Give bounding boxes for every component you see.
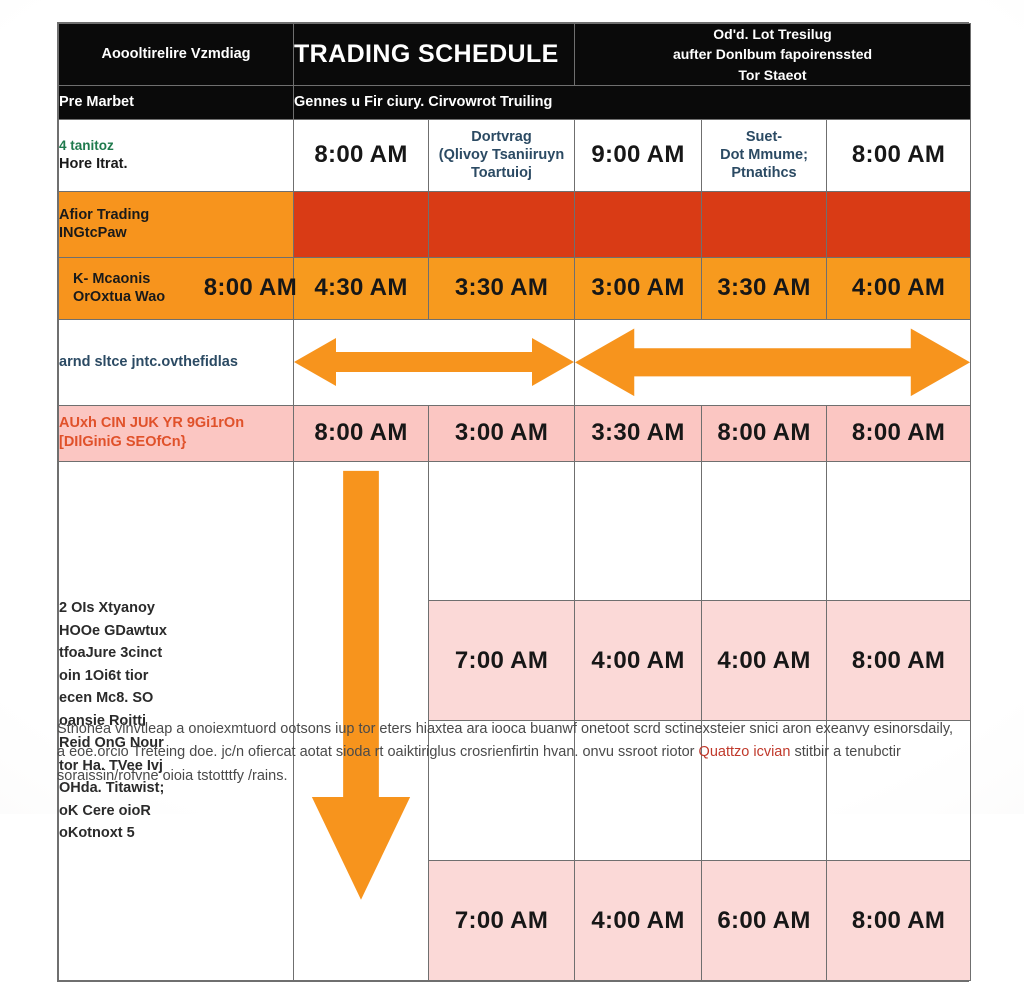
header-right-line-1: Od'd. Lot Tresilug bbox=[575, 24, 970, 44]
row-label-line-1: AUxh CIN JUK YR 9Gi1rOn bbox=[59, 414, 293, 433]
screenshot-root: Aoooltirelire Vzmdiag TRADING SCHEDULE O… bbox=[0, 0, 1024, 814]
row-label-line-1: 4 tanitoz bbox=[59, 137, 293, 154]
narrative-line: HOOe GDawtux bbox=[59, 620, 293, 642]
cell-time: 8:00 AM bbox=[294, 405, 429, 461]
cell-spacer bbox=[702, 461, 827, 601]
column-head-2-line-3: Toartuioj bbox=[429, 164, 574, 182]
header-left-title: Aoooltirelire Vzmdiag bbox=[59, 24, 294, 86]
cell-time: 8:00 AM bbox=[827, 119, 971, 191]
cell-time: 7:00 AM bbox=[429, 601, 575, 721]
header-right-line-2: aufter Donlbum fapoirenssted bbox=[575, 44, 970, 64]
table-row: AUxh CIN JUK YR 9Gi1rOn [DIlGiniG SEOfCn… bbox=[59, 405, 971, 461]
cell-time: 3:00 AM bbox=[429, 405, 575, 461]
footer-line-2: a eoe.orcio Treteing doe. jc/n ofiercat … bbox=[57, 741, 969, 764]
column-head-2-line-2: (Qlivoy Tsaniiruyn bbox=[429, 146, 574, 164]
column-head-4-line-2: Dot Mmume; bbox=[702, 146, 826, 164]
row-label-pink-section: AUxh CIN JUK YR 9Gi1rOn [DIlGiniG SEOfCn… bbox=[59, 405, 294, 461]
cell-time: 8:00 AM bbox=[702, 405, 827, 461]
cell-red-block bbox=[827, 191, 971, 257]
narrative-line: oin 1Oi6t tior bbox=[59, 665, 293, 687]
section-band-row: Pre Marbet Gennes u Fir ciury. Cirvowrot… bbox=[59, 85, 971, 119]
cell-time: 3:30 AM bbox=[575, 405, 702, 461]
cell-time: 8:00 AM bbox=[827, 405, 971, 461]
row-label-arrow-note: arnd sltce jntc.ovthefidlas bbox=[59, 319, 294, 405]
narrative-line: 2 OIs Xtyanoy bbox=[59, 597, 293, 619]
footer-highlight: Quattzo icvian bbox=[699, 744, 791, 760]
table-row: arnd sltce jntc.ovthefidlas bbox=[59, 319, 971, 405]
column-head-4: Suet- Dot Mmume; Ptnatihcs bbox=[702, 119, 827, 191]
cell-time: 3:00 AM bbox=[575, 257, 702, 319]
cell-time: 4:00 AM bbox=[575, 601, 702, 721]
header-right-title: Od'd. Lot Tresilug aufter Donlbum fapoir… bbox=[575, 24, 971, 86]
row-label-line-2: [DIlGiniG SEOfCn} bbox=[59, 433, 293, 452]
footer-line-3: soraissin/rofvne oioia tstotttfy /rains. bbox=[57, 765, 969, 788]
row-label-line-1: Afior Trading bbox=[59, 206, 293, 225]
table-row: 4 tanitoz Hore Itrat. 8:00 AM Dortvrag (… bbox=[59, 119, 971, 191]
narrative-line: oKotnoxt 5 bbox=[59, 822, 293, 844]
cell-spacer bbox=[827, 461, 971, 601]
column-head-2-line-1: Dortvrag bbox=[429, 128, 574, 146]
row-label-market-open: 4 tanitoz Hore Itrat. bbox=[59, 119, 294, 191]
row-label-after-trading: Afior Trading INGtcPaw bbox=[59, 191, 294, 257]
row-label-line-2: INGtcPaw bbox=[59, 224, 293, 243]
row-label-line-1: arnd sltce jntc.ovthefidlas bbox=[59, 353, 293, 372]
cell-red-block bbox=[575, 191, 702, 257]
footer-line-1: Stnonea vinvtleap a onoiexmtuord ootsons… bbox=[57, 718, 969, 741]
cell-time: 6:00 AM bbox=[702, 860, 827, 980]
double-arrow-icon bbox=[294, 332, 574, 392]
double-arrow-icon bbox=[575, 320, 970, 405]
row-label-line-2: Hore Itrat. bbox=[59, 155, 293, 174]
page-title: TRADING SCHEDULE bbox=[294, 24, 575, 86]
footer-caption: Stnonea vinvtleap a onoiexmtuord ootsons… bbox=[57, 718, 969, 788]
cell-time: 8:00 AM bbox=[827, 601, 971, 721]
double-arrow-left-cell bbox=[294, 319, 575, 405]
double-arrow-right-cell bbox=[575, 319, 971, 405]
narrative-line: ecen Mc8. SO bbox=[59, 687, 293, 709]
column-head-2: Dortvrag (Qlivoy Tsaniiruyn Toartuioj bbox=[429, 119, 575, 191]
cell-time: 4:00 AM bbox=[575, 860, 702, 980]
header-right-line-3: Tor Staeot bbox=[575, 65, 970, 85]
cell-time: 4:00 AM bbox=[702, 601, 827, 721]
cell-red-block bbox=[294, 191, 429, 257]
cell-spacer bbox=[575, 461, 702, 601]
cell-time: 8:00 AM bbox=[827, 860, 971, 980]
trading-schedule-table: Aoooltirelire Vzmdiag TRADING SCHEDULE O… bbox=[57, 22, 969, 982]
band-left-label: Pre Marbet bbox=[59, 85, 294, 119]
narrative-line: oK Cere oioR bbox=[59, 800, 293, 822]
cell-red-block bbox=[702, 191, 827, 257]
cell-time: 3:30 AM bbox=[429, 257, 575, 319]
cell-time: 7:00 AM bbox=[429, 860, 575, 980]
cell-red-block bbox=[429, 191, 575, 257]
table-row: 2 OIs Xtyanoy HOOe GDawtux tfoaJure 3cin… bbox=[59, 461, 971, 601]
table-row: K- Mcaonis OrOxtua Wao 8:00 AM 4:30 AM 3… bbox=[59, 257, 971, 319]
cell-time: 4:00 AM bbox=[827, 257, 971, 319]
band-right-note: Gennes u Fir ciury. Cirvowrot Truiling bbox=[294, 85, 971, 119]
cell-time: 8:00 AM bbox=[294, 119, 429, 191]
table-row: Afior Trading INGtcPaw bbox=[59, 191, 971, 257]
footer-line-2-post: stitbir a tenubctir bbox=[790, 744, 900, 760]
narrative-line: tfoaJure 3cinct bbox=[59, 642, 293, 664]
schedule-table: Aoooltirelire Vzmdiag TRADING SCHEDULE O… bbox=[58, 23, 971, 981]
footer-line-2-pre: a eoe.orcio Treteing doe. jc/n ofiercat … bbox=[57, 744, 699, 760]
row-label-orange-times: K- Mcaonis OrOxtua Wao 8:00 AM bbox=[59, 257, 294, 319]
cell-time: 3:30 AM bbox=[702, 257, 827, 319]
cell-spacer bbox=[429, 461, 575, 601]
column-head-4-line-1: Suet- bbox=[702, 128, 826, 146]
cell-time: 8:00 AM bbox=[204, 274, 297, 302]
cell-time: 9:00 AM bbox=[575, 119, 702, 191]
column-head-4-line-3: Ptnatihcs bbox=[702, 164, 826, 182]
cell-time: 4:30 AM bbox=[294, 257, 429, 319]
table-header-row: Aoooltirelire Vzmdiag TRADING SCHEDULE O… bbox=[59, 24, 971, 86]
